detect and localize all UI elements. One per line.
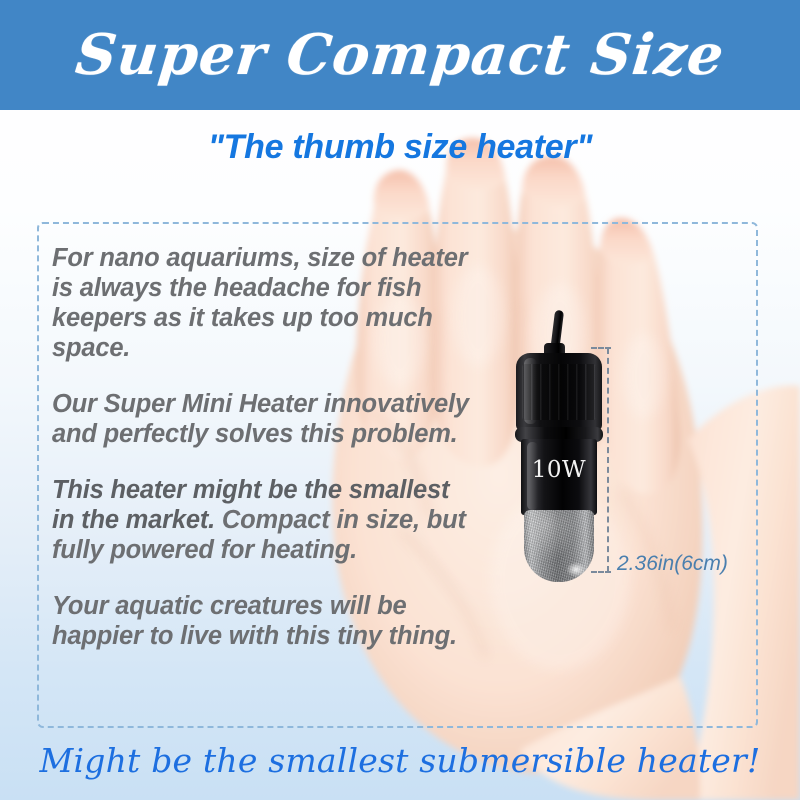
dimension-line [607,348,609,572]
infographic-page: Super Compact Size "The thumb size heate… [0,0,800,800]
fingertip-index [374,170,430,219]
page-title: Super Compact Size [73,27,727,83]
paragraph-2: Our Super Mini Heater innovatively and p… [52,389,472,449]
bottom-tagline: Might be the smallest submersible heater… [0,741,800,780]
paragraph-1: For nano aquariums, size of heater is al… [52,243,472,363]
heater-capsule [524,510,594,582]
subtitle: "The thumb size heater" [0,128,800,167]
heater-cap-highlight [524,358,537,424]
capsule-highlight [566,562,586,577]
paragraph-3: This heater might be the smallest in the… [52,475,472,565]
paragraph-4: Your aquatic creatures will be happier t… [52,591,472,651]
dimension-tick-bottom [591,571,611,573]
dimension-label: 2.36in(6cm) [617,552,728,576]
header-band: Super Compact Size [0,0,800,110]
heater-product: 10W [516,310,602,582]
wattage-label: 10W [521,457,597,483]
body-copy: For nano aquariums, size of heater is al… [52,243,472,651]
